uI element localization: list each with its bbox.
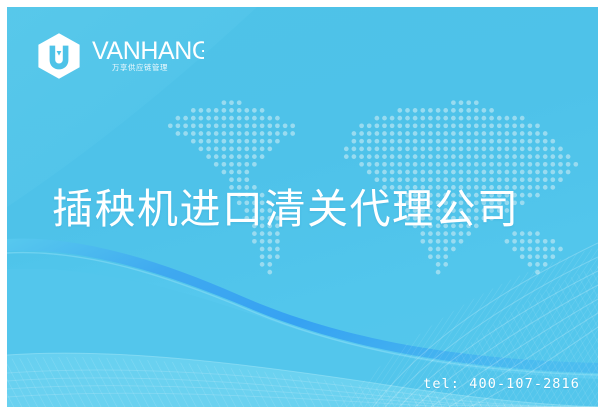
banner-frame: VANHANG 万享供应链管理 插秧机进口清关代理公司 tel: 400-107… bbox=[0, 0, 605, 413]
hexagon-u-logo-icon bbox=[36, 32, 82, 80]
brand-wordmark: VANHANG 万享供应链管理 bbox=[92, 34, 204, 78]
wordmark-text: VANHANG bbox=[92, 37, 204, 65]
promo-banner: VANHANG 万享供应链管理 插秧机进口清关代理公司 tel: 400-107… bbox=[7, 7, 598, 407]
page-title: 插秧机进口清关代理公司 bbox=[52, 183, 520, 235]
contact-phone[interactable]: tel: 400-107-2816 bbox=[423, 376, 580, 392]
wordmark-subtext: 万享供应链管理 bbox=[112, 63, 168, 72]
brand-logo[interactable]: VANHANG 万享供应链管理 bbox=[36, 32, 204, 80]
